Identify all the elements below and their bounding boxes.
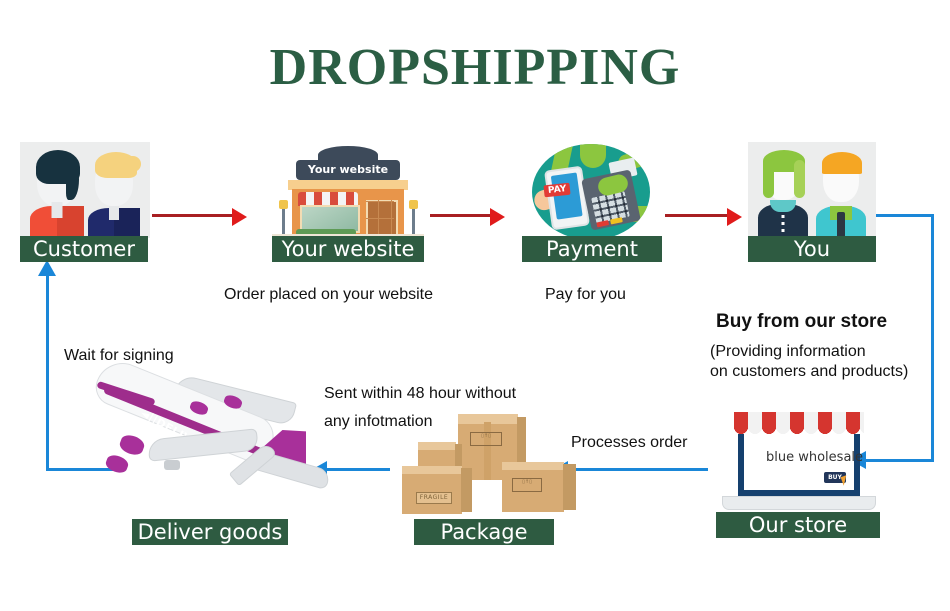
deliver-goods-illustration: ◄||DELIVERY <box>78 382 322 510</box>
step-label-payment: Payment <box>522 236 662 262</box>
step-label-your-website: Your website <box>272 236 424 262</box>
customer-person-left <box>24 142 89 238</box>
box-fragile-label: FRAGILE <box>416 492 452 504</box>
step-label-deliver-goods: Deliver goods <box>132 519 288 545</box>
store-screen-text: blue wholesale <box>766 450 863 465</box>
our-store-illustration: blue wholesale BUY <box>716 412 880 518</box>
page-title: DROPSHIPPING <box>0 38 950 97</box>
package-box-front: FRAGILE <box>402 466 472 514</box>
package-box-right: ▯↑▯ <box>502 462 576 512</box>
caption-sent-line1: Sent within 48 hour without <box>324 383 516 405</box>
you-illustration <box>748 142 876 238</box>
caption-order-placed: Order placed on your website <box>224 284 433 306</box>
customer-person-right <box>81 142 146 238</box>
caption-processes-order: Processes order <box>571 432 688 454</box>
caption-providing-line1: (Providing information <box>710 341 866 363</box>
step-label-customer: Customer <box>20 236 148 262</box>
your-website-illustration: Your website <box>272 146 424 240</box>
you-person-left <box>751 142 815 238</box>
step-label-package: Package <box>414 519 554 545</box>
caption-pay-for-you: Pay for you <box>545 284 626 306</box>
package-illustration: ▯↑▯ ▯↑▯ FRAGILE <box>396 414 582 518</box>
you-person-right <box>809 142 873 238</box>
step-label-you: You <box>748 236 876 262</box>
payment-illustration: PAY <box>522 144 662 240</box>
customer-illustration <box>20 142 150 238</box>
infographic-canvas: DROPSHIPPING <box>0 0 950 611</box>
caption-providing-line2: on customers and products) <box>710 361 908 383</box>
caption-buy-from-our-store: Buy from our store <box>716 311 887 333</box>
step-label-our-store: Our store <box>716 512 880 538</box>
website-sign-text: Your website <box>296 160 400 179</box>
